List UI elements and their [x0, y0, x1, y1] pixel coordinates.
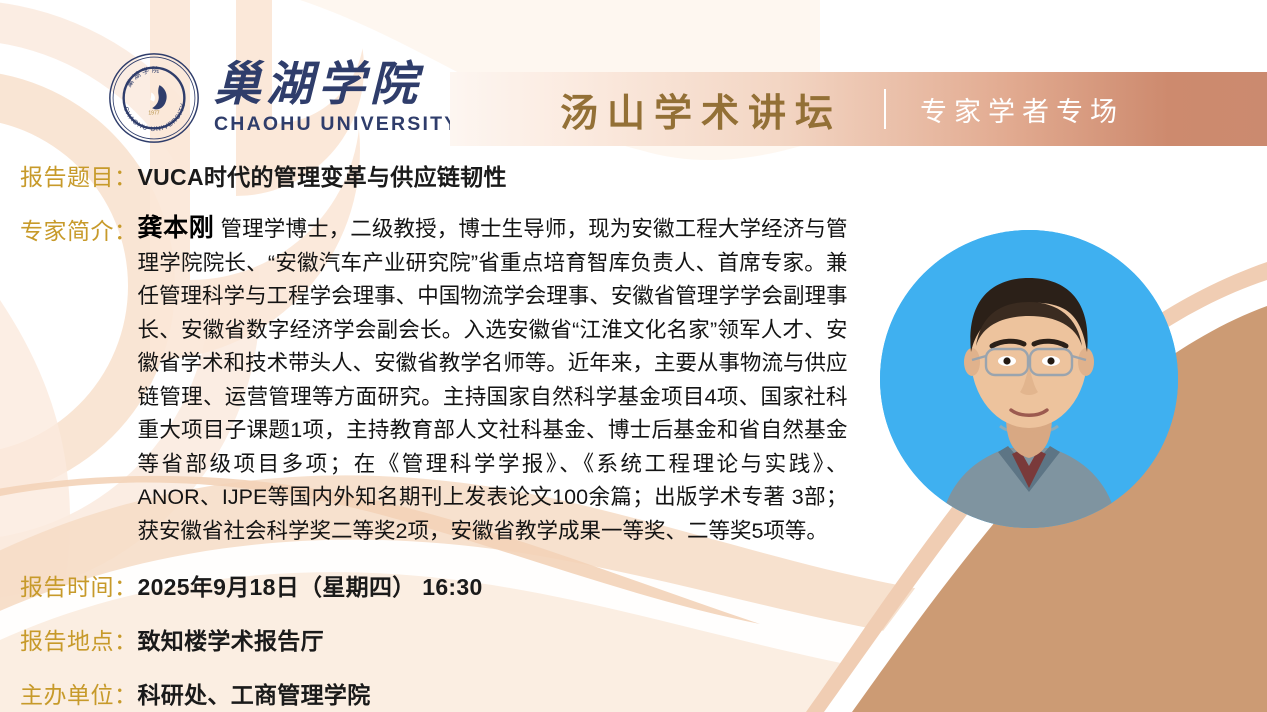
- poster-content: 报告题目： VUCA时代的管理变革与供应链韧性 专家简介： 龚本刚 管理学博士，…: [0, 0, 1267, 712]
- lecture-time-label: 报告时间：: [20, 568, 138, 602]
- lecture-title-label: 报告题目：: [20, 158, 138, 192]
- speaker-portrait: [880, 230, 1178, 528]
- lecture-poster: 1977 巢 湖 学 院 CHAOHU UNIVERSITY 巢湖学院 CHAO…: [0, 0, 1267, 712]
- speaker-bio-body: 龚本刚 管理学博士，二级教授，博士生导师，现为安徽工程大学经济与管理学院院长、“…: [138, 212, 848, 548]
- speaker-bio-row: 专家简介： 龚本刚 管理学博士，二级教授，博士生导师，现为安徽工程大学经济与管理…: [20, 212, 880, 548]
- speaker-name: 龚本刚: [138, 214, 215, 242]
- lecture-place-label: 报告地点：: [20, 622, 138, 656]
- lecture-place-value: 致知楼学术报告厅: [138, 622, 324, 656]
- speaker-bio-text: 管理学博士，二级教授，博士生导师，现为安徽工程大学经济与管理学院院长、“安徽汽车…: [138, 217, 848, 543]
- lecture-host-row: 主办单位： 科研处、工商管理学院: [20, 676, 371, 710]
- lecture-title-row: 报告题目： VUCA时代的管理变革与供应链韧性: [20, 158, 507, 192]
- lecture-place-row: 报告地点： 致知楼学术报告厅: [20, 622, 324, 656]
- lecture-time-value: 2025年9月18日（星期四） 16:30: [138, 568, 483, 602]
- lecture-time-row: 报告时间： 2025年9月18日（星期四） 16:30: [20, 568, 483, 602]
- lecture-host-label: 主办单位：: [20, 676, 138, 710]
- speaker-portrait-image: [880, 230, 1178, 528]
- lecture-host-value: 科研处、工商管理学院: [138, 676, 371, 710]
- lecture-title-value: VUCA时代的管理变革与供应链韧性: [138, 158, 507, 192]
- speaker-bio-label: 专家简介：: [20, 212, 138, 246]
